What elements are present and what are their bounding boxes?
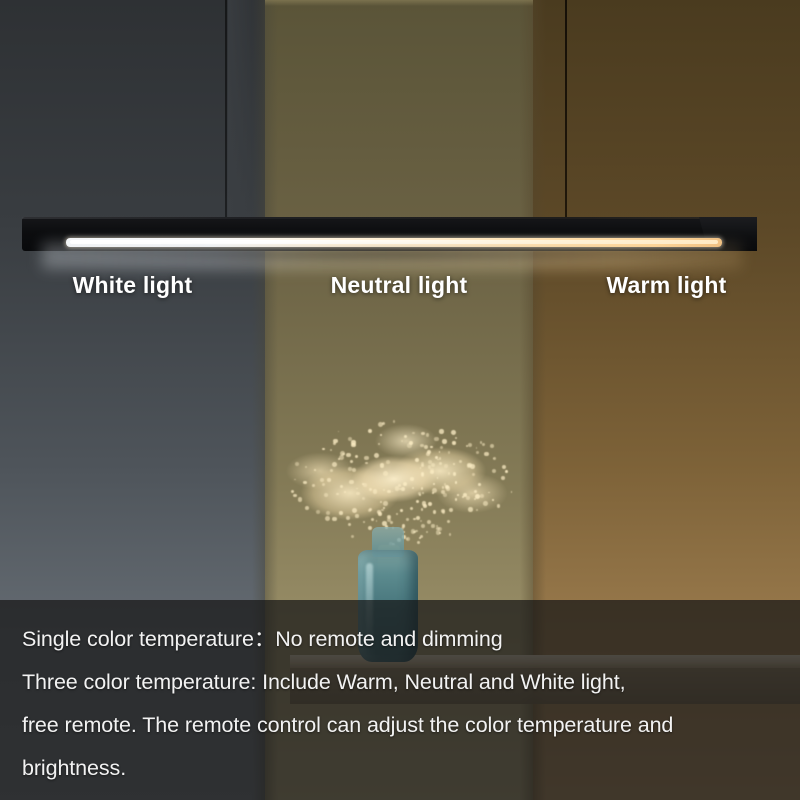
flower-bud [416,500,419,503]
flower-bud [312,484,315,487]
flower-bud [410,477,414,481]
flower-bud [488,492,490,494]
flower-bud [427,520,431,524]
flower-bud [432,488,437,493]
flower-bud [350,460,353,463]
flower-bud [378,512,381,515]
flower-bud [452,441,455,444]
flower-bud [415,458,419,462]
flower-bud [362,483,364,485]
flower-bud [294,479,296,481]
flower-bud [457,494,459,496]
description-line-4: brightness. [22,747,778,790]
zone-label-white: White light [0,272,265,299]
flower-bud [421,487,423,489]
flower-bud [352,468,356,472]
flower-bud [478,483,481,486]
flower-bud [401,440,403,442]
flower-bud [427,450,431,454]
led-strip-core [70,240,718,244]
flower-bud [381,509,384,512]
flower-bud [325,516,330,521]
flower-bud [295,462,299,466]
flower-bud [392,491,394,493]
flower-bud [363,483,367,487]
flower-bud [444,483,447,486]
flower-bud [386,460,390,464]
flower-bud [421,432,425,436]
flower-bud [355,455,358,458]
flower-bud [355,514,358,517]
flower-bud [449,508,453,512]
flower-bud [380,463,384,467]
flower-bud [383,489,385,491]
flower-bud [421,508,424,511]
description-line-2: Three color temperature: Include Warm, N… [22,661,778,704]
flower-bud [348,467,352,471]
flower-bud [502,465,506,469]
flower-bud [371,518,374,521]
flower-bud [383,501,388,506]
flower-bud [380,501,382,503]
flower-bud [383,507,385,509]
flower-bud [434,437,438,441]
flower-bud [431,463,435,467]
flower-bud [330,469,333,472]
flower-bud [362,497,365,500]
flower-bud [303,481,306,484]
flower-bud [492,499,494,501]
flower-bud [437,477,439,479]
flower-bud [401,487,405,491]
flower-bud [439,462,442,465]
flower-bud [505,470,508,473]
flower-bud [365,462,367,464]
flower-bud [400,509,403,512]
flower-bud [346,516,350,520]
flower-bud [484,452,489,457]
flower-bud [348,523,351,526]
flower-bud [373,489,378,494]
flower-bud [444,464,448,468]
flower-bud [409,441,413,445]
flower-bud [419,494,421,496]
flower-bud [448,472,450,474]
flower-bud [382,521,387,526]
flower-bud [474,490,478,494]
flower-bud [453,463,456,466]
flower-bud [433,510,436,513]
flower-bud [340,485,343,488]
flower-bud [336,493,339,496]
flower-bud [453,472,457,476]
flower-bud [430,470,434,474]
fixture-top-edge [22,217,757,219]
flower-bud [428,502,432,506]
flower-bud [474,498,476,500]
flower-bud [431,524,434,527]
flower-bud [356,488,358,490]
flower-bud [376,520,378,522]
flower-bud [420,444,424,448]
flower-bud [459,460,462,463]
flower-bud [322,448,325,451]
flower-bud [447,520,450,523]
flower-bud [374,453,379,458]
flower-bud [466,445,468,447]
flower-bud [387,490,390,493]
flower-bud [455,498,458,501]
flower-bud [326,511,330,515]
flower-bud [442,486,445,489]
flower-bud [441,509,445,513]
flower-bud [426,531,428,533]
flower-bud [351,535,354,538]
flower-bud [439,532,442,535]
flower-bud [455,437,457,439]
flower-bud [475,494,480,499]
flower-bud [346,453,350,457]
flower-bud [349,480,353,484]
flower-bud [490,444,494,448]
flower-bud [439,429,443,433]
flower-bud [501,476,505,480]
flower-bud [421,524,425,528]
flower-bud [449,533,452,536]
flower-bud [403,482,407,486]
flower-bud [420,467,422,469]
flower-bud [380,434,383,437]
flower-bud [424,445,428,449]
flower-bud [420,520,422,522]
flower-bud [476,509,478,511]
flower-bud [406,538,408,540]
flower-bud [415,530,418,533]
flower-bud [439,451,441,453]
flower-bud [492,469,496,473]
flower-bud [463,493,467,497]
dried-flowers [276,401,534,573]
flower-bud [383,471,388,476]
flower-bud [339,511,343,515]
flower-bud [480,494,484,498]
flower-bud [352,508,357,513]
flower-bud [314,469,316,471]
flower-bud [416,516,420,520]
flower-bud [339,455,344,460]
flower-bud [390,521,393,524]
flower-bud [305,466,307,468]
flower-bud [356,492,360,496]
flower-bud [476,447,478,449]
flower-bud [422,492,424,494]
flower-bud [368,526,372,530]
flower-bud [443,493,447,497]
flower-bud [363,521,365,523]
flower-bud [395,486,400,491]
flower-bud [396,513,398,515]
flower-bud [410,507,413,510]
flower-bud [468,443,472,447]
flower-bud [412,487,414,489]
flower-bud [442,439,446,443]
flower-bud [448,451,451,454]
flower-bud [293,494,296,497]
flower-bud [417,541,420,544]
cabinet-seam-left [225,0,227,218]
flower-bud [468,507,472,511]
flower-bud [483,501,488,506]
flower-bud [437,459,439,461]
flower-bud [472,473,474,475]
flower-bud [430,446,432,448]
flower-bud [493,457,496,460]
flower-bud [497,504,500,507]
flower-bud [327,478,330,481]
flower-bud [482,443,485,446]
flower-bud [378,422,383,427]
flower-bud [364,456,369,461]
zone-label-warm: Warm light [533,272,800,299]
flower-bud [404,435,407,438]
flower-bud [338,431,340,433]
flower-bud [421,464,425,468]
pendant-light-fixture [22,217,757,251]
flower-bud [351,440,355,444]
flower-bud [369,488,372,491]
product-feature-image: White light Neutral light Warm light Sin… [0,0,800,800]
flower-bud [406,518,409,521]
flower-bud [332,462,337,467]
flower-bud [324,493,328,497]
flower-bud [412,432,415,435]
flower-bud [330,449,332,451]
flower-bud [455,481,458,484]
flower-bud [322,483,325,486]
flower-bud [291,490,294,493]
flower-bud [426,433,430,437]
flower-bud [369,508,372,511]
flower-bud [420,535,423,538]
flower-bud [433,483,435,485]
zone-label-neutral: Neutral light [265,272,533,299]
flower-bud [476,451,479,454]
description-line-1: Single color temperature：No remote and d… [22,618,778,661]
flower-bud [440,446,443,449]
flower-bud [435,456,438,459]
flower-bud [298,497,302,501]
cabinet-top-sheen [265,0,533,6]
flower-bud [428,465,432,469]
flower-bud [320,478,324,482]
flower-bud [332,517,336,521]
cabinet-seam-right [565,0,567,218]
flower-bud [511,491,513,493]
flower-bud [344,491,346,493]
flower-bud [378,443,380,445]
flower-bud [422,501,426,505]
flower-bud [470,464,475,469]
flower-bud [393,420,396,423]
flower-bud [368,429,372,433]
description-line-3: free remote. The remote control can adju… [22,704,778,747]
flower-bud [446,486,450,490]
flower-bud [402,524,406,528]
flower-bud [333,442,336,445]
flower-bud [316,510,320,514]
description-overlay: Single color temperature：No remote and d… [0,600,800,800]
flower-bud [305,506,309,510]
flower-bud [439,457,441,459]
flower-bud [451,430,456,435]
cabinet-panel-left [228,0,262,218]
